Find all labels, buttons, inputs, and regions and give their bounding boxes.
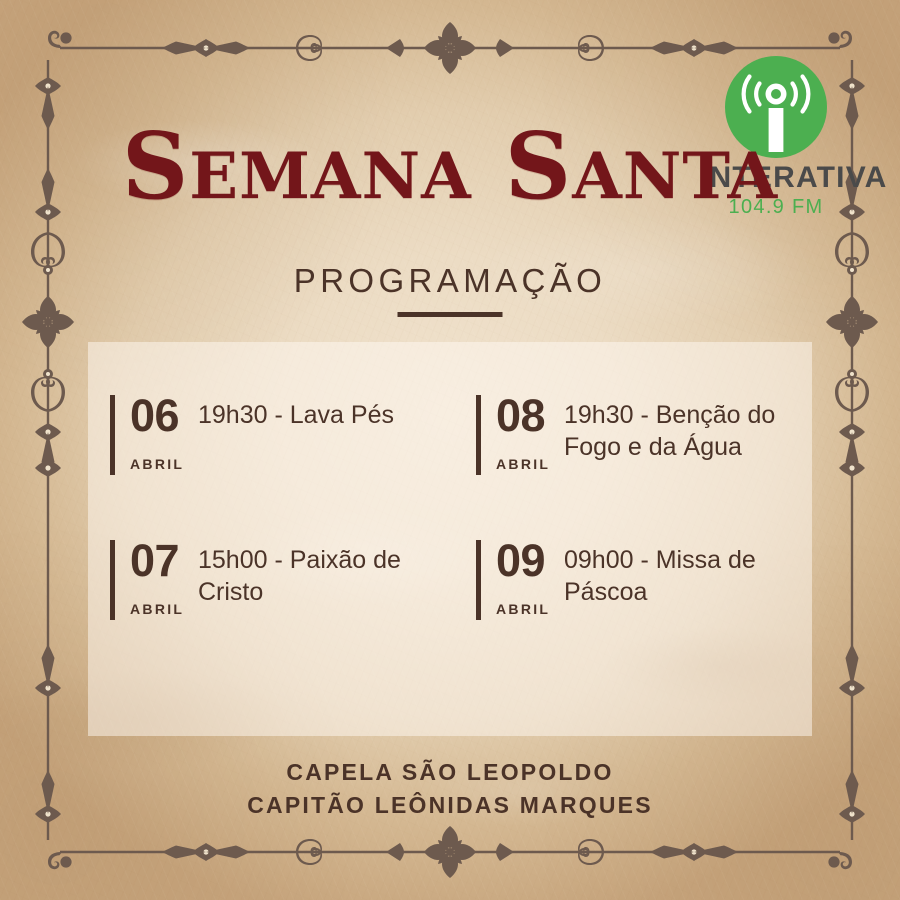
schedule-day: 08 xyxy=(496,394,564,438)
schedule-date: 08 ABRIL xyxy=(496,394,564,472)
schedule-description: 09h00 - Missa de Páscoa xyxy=(564,545,812,609)
schedule-accent-bar xyxy=(476,395,481,475)
page-title: Semana Santa xyxy=(0,118,900,215)
schedule-item[interactable]: 06 ABRIL 19h30 - Lava Pés xyxy=(88,394,450,539)
schedule-day: 06 xyxy=(130,394,198,438)
venue-name: CAPELA SÃO LEOPOLDO xyxy=(0,756,900,789)
schedule-description: 19h30 - Lava Pés xyxy=(198,400,394,432)
schedule-date: 09 ABRIL xyxy=(496,539,564,617)
schedule-item[interactable]: 07 ABRIL 15h00 - Paixão de Cristo xyxy=(88,539,450,684)
schedule-accent-bar xyxy=(110,395,115,475)
schedule-day: 09 xyxy=(496,539,564,583)
schedule-month: ABRIL xyxy=(496,601,564,617)
schedule-item[interactable]: 08 ABRIL 19h30 - Benção do Fogo e da Águ… xyxy=(450,394,812,539)
title-divider xyxy=(398,312,503,317)
schedule-accent-bar xyxy=(476,540,481,620)
schedule-description: 15h00 - Paixão de Cristo xyxy=(198,545,450,609)
schedule-month: ABRIL xyxy=(496,456,564,472)
schedule-day: 07 xyxy=(130,539,198,583)
page-subtitle: PROGRAMAÇÃO xyxy=(0,262,900,300)
venue-footer: CAPELA SÃO LEOPOLDO CAPITÃO LEÔNIDAS MAR… xyxy=(0,756,900,823)
poster-canvas: INTERATIVA 104.9 FM Semana Santa PROGRAM… xyxy=(0,0,900,900)
schedule-month: ABRIL xyxy=(130,601,198,617)
schedule-month: ABRIL xyxy=(130,456,198,472)
schedule-date: 06 ABRIL xyxy=(130,394,198,472)
schedule-grid: 06 ABRIL 19h30 - Lava Pés 08 ABRIL 19h30… xyxy=(88,342,812,736)
schedule-accent-bar xyxy=(110,540,115,620)
venue-city: CAPITÃO LEÔNIDAS MARQUES xyxy=(0,789,900,822)
schedule-date: 07 ABRIL xyxy=(130,539,198,617)
schedule-item[interactable]: 09 ABRIL 09h00 - Missa de Páscoa xyxy=(450,539,812,684)
schedule-description: 19h30 - Benção do Fogo e da Água xyxy=(564,400,812,464)
